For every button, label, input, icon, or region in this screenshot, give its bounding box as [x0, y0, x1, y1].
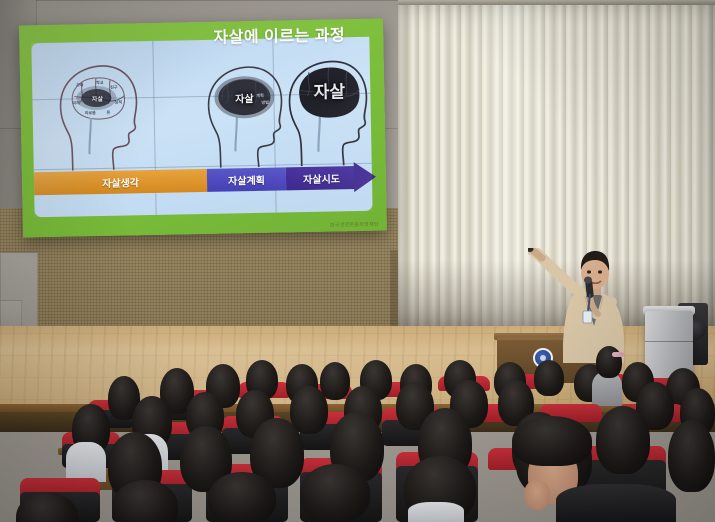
- assistant-head: [596, 346, 622, 378]
- head-silhouette-1: [50, 57, 148, 171]
- presenter-id-badge: [583, 311, 592, 323]
- thought-word-6: 돈: [107, 110, 111, 116]
- hair-clip: [612, 352, 624, 357]
- audience-head-nearest: [300, 464, 370, 522]
- progress-arrow-icon: [354, 162, 377, 192]
- stage-label-2: 자살계획: [228, 172, 265, 188]
- thought-word-method: 방법: [261, 100, 268, 106]
- thought-word-1: 가족: [76, 82, 83, 88]
- head-silhouette-2: [198, 58, 292, 168]
- head-stage-1: 자살 가족 학교 친구 성적 미래 돈 외로움: [50, 57, 148, 171]
- auditorium-photo-scene: 자살에 이르는 과정: [0, 0, 715, 522]
- audience-head-nearest: [208, 472, 276, 522]
- brain-label-3: 자살: [301, 77, 357, 103]
- stage-label-3: 자살시도: [303, 170, 340, 186]
- head-silhouette-3: [279, 53, 377, 167]
- stage-segment-plan: 자살계획: [207, 167, 286, 192]
- student-hand: [524, 480, 550, 510]
- audience-head: [534, 360, 564, 396]
- audience-head-foreground: [668, 420, 715, 492]
- thought-word-4: 성적: [114, 100, 121, 106]
- organization-logo: 한국생명존중희망재단: [330, 221, 379, 229]
- audience-head: [320, 362, 350, 400]
- stage-segment-attempt: 자살시도: [286, 166, 357, 190]
- presenter-eye-right: [598, 270, 602, 273]
- presenter[interactable]: [528, 248, 648, 358]
- thought-word-3: 친구: [110, 85, 117, 91]
- student-shirt-near: [408, 502, 464, 522]
- thought-word-5: 미래: [72, 100, 79, 106]
- curtain-rail: [398, 0, 715, 5]
- thought-word-2: 학교: [96, 80, 103, 86]
- audience-head-foreground: [596, 406, 650, 474]
- presenter-figure: [528, 248, 658, 363]
- stage-segment-ideation: 자살생각: [34, 169, 207, 195]
- student-shirt: [66, 442, 106, 482]
- slide-body: 자살에 이르는 과정: [31, 37, 372, 217]
- presenter-eye-left: [587, 270, 591, 273]
- microphone-head-icon: [584, 277, 592, 284]
- slide-title: 자살에 이르는 과정: [183, 19, 376, 53]
- thought-word-7: 외로움: [85, 110, 96, 116]
- student-hair-overlay: [512, 416, 592, 466]
- head-stage-2: 자살 계획 방법: [198, 58, 292, 168]
- student-jacket: [556, 484, 676, 522]
- audience-area: [0, 360, 715, 522]
- presentation-screen[interactable]: 자살에 이르는 과정: [19, 19, 387, 238]
- stage-label-1: 자살생각: [102, 174, 139, 190]
- head-stage-3: 자살: [279, 53, 377, 167]
